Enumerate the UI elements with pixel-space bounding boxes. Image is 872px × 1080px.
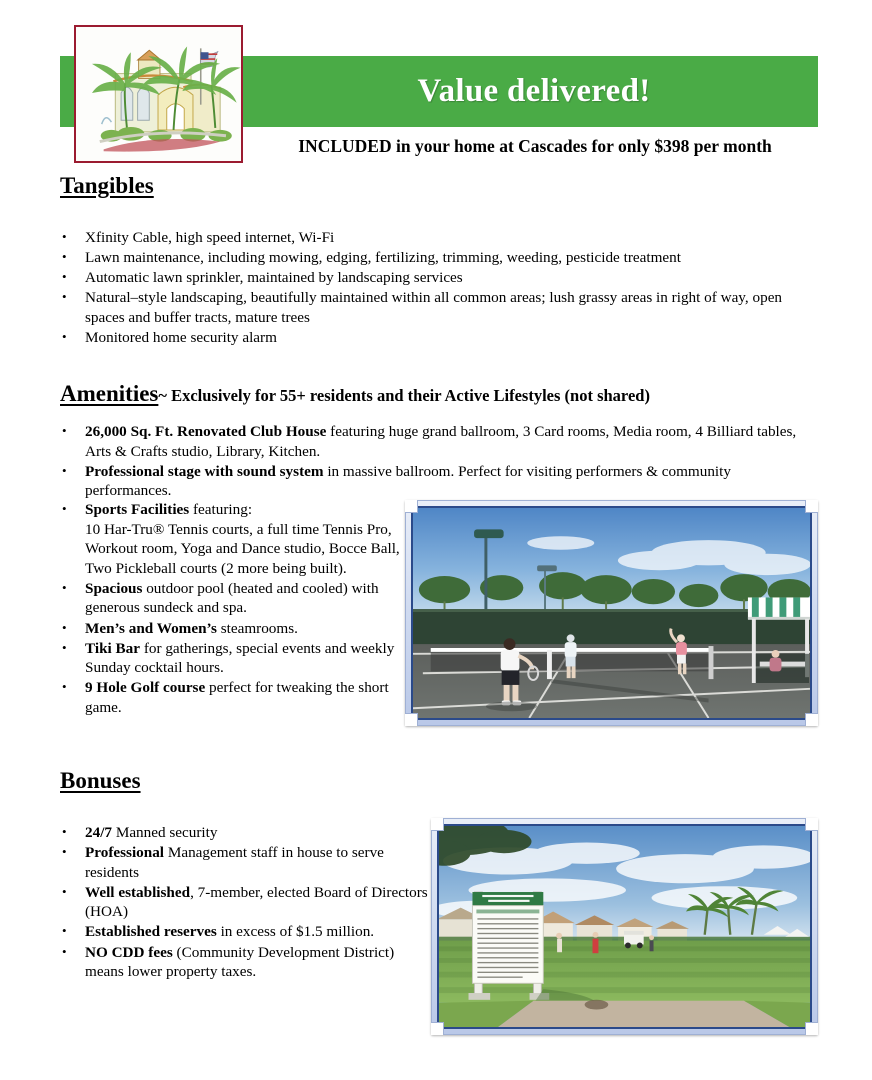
list-item-text: featuring: bbox=[189, 501, 252, 518]
list-item-text: Manned security bbox=[112, 824, 217, 841]
list-item-text: Lawn maintenance, including mowing, edgi… bbox=[85, 249, 681, 266]
list-item-text: steamrooms. bbox=[217, 620, 298, 637]
list-item-bold: Tiki Bar bbox=[85, 640, 140, 657]
list-item: Established reserves in excess of $1.5 m… bbox=[60, 922, 435, 942]
list-item: Tiki Bar for gatherings, special events … bbox=[60, 639, 405, 678]
frame-notch-icon bbox=[405, 500, 418, 513]
list-item: Spacious outdoor pool (heated and cooled… bbox=[60, 579, 405, 618]
list-item-bold: NO CDD fees bbox=[85, 944, 173, 961]
list-item: Well established, 7-member, elected Boar… bbox=[60, 883, 435, 922]
list-item-bold: 24/7 bbox=[85, 824, 112, 841]
golf-course-image bbox=[439, 826, 810, 1027]
section-heading-bonuses-label: Bonuses bbox=[60, 768, 141, 793]
list-item-bold: Established reserves bbox=[85, 923, 217, 940]
list-item: Automatic lawn sprinkler, maintained by … bbox=[60, 268, 805, 288]
golf-photo-inner bbox=[437, 824, 812, 1029]
list-item-bold: Men’s and Women’s bbox=[85, 620, 217, 637]
list-item: Professional stage with sound system in … bbox=[60, 462, 818, 501]
section-heading-amenities: Amenities~ Exclusively for 55+ residents… bbox=[60, 381, 650, 407]
list-item-bold: 9 Hole Golf course bbox=[85, 679, 205, 696]
list-item: Natural–style landscaping, beautifully m… bbox=[60, 288, 805, 327]
section-heading-bonuses: Bonuses bbox=[60, 768, 141, 794]
list-item: Monitored home security alarm bbox=[60, 328, 805, 348]
section-heading-amenities-tail: ~ Exclusively for 55+ residents and thei… bbox=[158, 386, 650, 405]
list-item-bold: Professional stage with sound system bbox=[85, 463, 324, 480]
list-item-text: in excess of $1.5 million. bbox=[217, 923, 374, 940]
frame-notch-icon bbox=[805, 1022, 818, 1035]
list-item-subline: 10 Har-Tru® Tennis courts, a full time T… bbox=[85, 520, 405, 559]
amenities-list-narrow: Sports Facilities featuring: 10 Har-Tru®… bbox=[60, 500, 405, 718]
list-item: 24/7 Manned security bbox=[60, 823, 435, 843]
page-title: Value delivered! bbox=[250, 56, 818, 127]
list-item-text: Automatic lawn sprinkler, maintained by … bbox=[85, 269, 463, 286]
frame-notch-icon bbox=[805, 500, 818, 513]
list-item-bold: 26,000 Sq. Ft. Renovated Club House bbox=[85, 423, 326, 440]
frame-notch-icon bbox=[431, 1022, 444, 1035]
frame-notch-icon bbox=[431, 818, 444, 831]
list-item-text: Monitored home security alarm bbox=[85, 329, 277, 346]
clubhouse-illustration-icon bbox=[76, 27, 241, 161]
tennis-photo-inner bbox=[411, 506, 812, 720]
list-item: 26,000 Sq. Ft. Renovated Club House feat… bbox=[60, 422, 818, 461]
list-item: NO CDD fees (Community Development Distr… bbox=[60, 943, 435, 982]
list-item: 9 Hole Golf course perfect for tweaking … bbox=[60, 678, 405, 717]
list-item: Professional Management staff in house t… bbox=[60, 843, 435, 882]
list-item: Xfinity Cable, high speed internet, Wi-F… bbox=[60, 228, 805, 248]
list-item-bold: Sports Facilities bbox=[85, 501, 189, 518]
frame-notch-icon bbox=[805, 818, 818, 831]
tennis-photo bbox=[405, 500, 818, 726]
section-heading-amenities-label: Amenities bbox=[60, 381, 158, 406]
list-item: Men’s and Women’s steamrooms. bbox=[60, 619, 405, 639]
tangibles-list: Xfinity Cable, high speed internet, Wi-F… bbox=[60, 228, 805, 348]
cascades-logo bbox=[74, 25, 243, 163]
amenities-list-wide: 26,000 Sq. Ft. Renovated Club House feat… bbox=[60, 422, 818, 501]
list-item-text: Xfinity Cable, high speed internet, Wi-F… bbox=[85, 229, 334, 246]
tennis-court-image bbox=[413, 508, 810, 718]
frame-notch-icon bbox=[405, 713, 418, 726]
list-item-text: Natural–style landscaping, beautifully m… bbox=[85, 289, 782, 326]
list-item-subline: Two Pickleball courts (2 more being buil… bbox=[85, 559, 405, 579]
section-heading-tangibles: Tangibles bbox=[60, 173, 154, 199]
page-subtitle: INCLUDED in your home at Cascades for on… bbox=[250, 136, 820, 157]
bonuses-list: 24/7 Manned security Professional Manage… bbox=[60, 823, 435, 982]
list-item: Lawn maintenance, including mowing, edgi… bbox=[60, 248, 805, 268]
list-item-bold: Professional bbox=[85, 844, 164, 861]
list-item-bold: Spacious bbox=[85, 580, 142, 597]
list-item: Sports Facilities featuring: 10 Har-Tru®… bbox=[60, 500, 405, 578]
list-item-bold: Well established bbox=[85, 884, 190, 901]
section-heading-tangibles-label: Tangibles bbox=[60, 173, 154, 198]
golf-photo bbox=[431, 818, 818, 1035]
frame-notch-icon bbox=[805, 713, 818, 726]
